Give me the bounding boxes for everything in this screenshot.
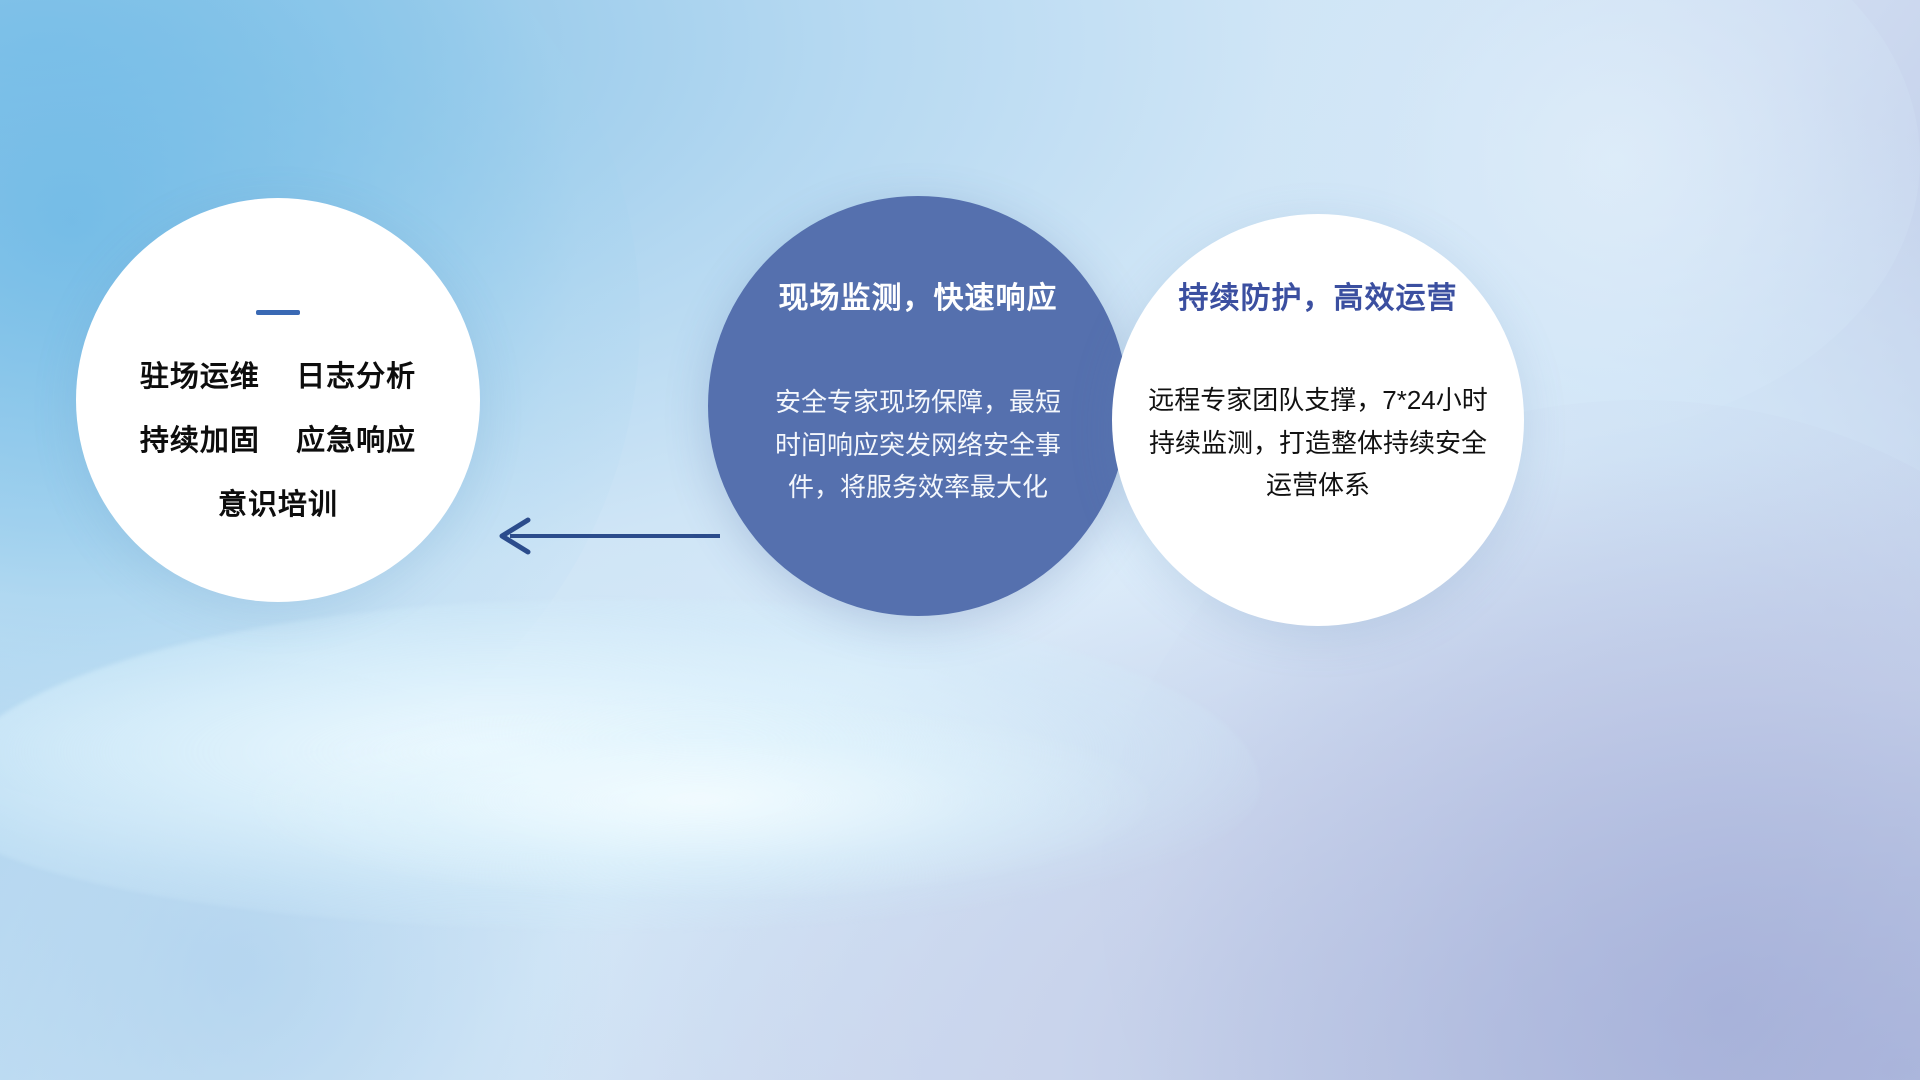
right-card-content: 持续防护，高效运营 远程专家团队支撑，7*24小时持续监测，打造整体持续安全运营…: [1112, 282, 1524, 507]
middle-card-body: 安全专家现场保障，最短时间响应突发网络安全事件，将服务效率最大化: [768, 381, 1068, 509]
card-continuous-protection[interactable]: 持续防护，高效运营 远程专家团队支撑，7*24小时持续监测，打造整体持续安全运营…: [1112, 214, 1524, 626]
middle-card-content: 现场监测，快速响应 安全专家现场保障，最短时间响应突发网络安全事件，将服务效率最…: [708, 282, 1128, 509]
card-onsite-monitoring[interactable]: 现场监测，快速响应 安全专家现场保障，最短时间响应突发网络安全事件，将服务效率最…: [708, 196, 1128, 616]
accent-dash-icon: [256, 310, 300, 315]
right-card-title: 持续防护，高效运营: [1112, 282, 1524, 315]
arrow-left-icon: [488, 508, 720, 564]
left-card-content: 驻场运维 日志分析 持续加固 应急响应 意识培训: [76, 310, 480, 520]
keyword-row-1: 驻场运维 日志分析: [76, 363, 480, 392]
card-service-keywords[interactable]: 驻场运维 日志分析 持续加固 应急响应 意识培训: [76, 198, 480, 602]
middle-card-title: 现场监测，快速响应: [708, 282, 1128, 315]
slide-canvas: 驻场运维 日志分析 持续加固 应急响应 意识培训 现场监测，快速响应 安全专家现…: [0, 0, 1920, 1080]
right-card-body: 远程专家团队支撑，7*24小时持续监测，打造整体持续安全运营体系: [1143, 379, 1493, 507]
keyword-row-3: 意识培训: [76, 491, 480, 520]
connector-arrow: [488, 508, 720, 564]
keyword-row-2: 持续加固 应急响应: [76, 427, 480, 456]
background-light-band-inner: [250, 700, 1150, 900]
